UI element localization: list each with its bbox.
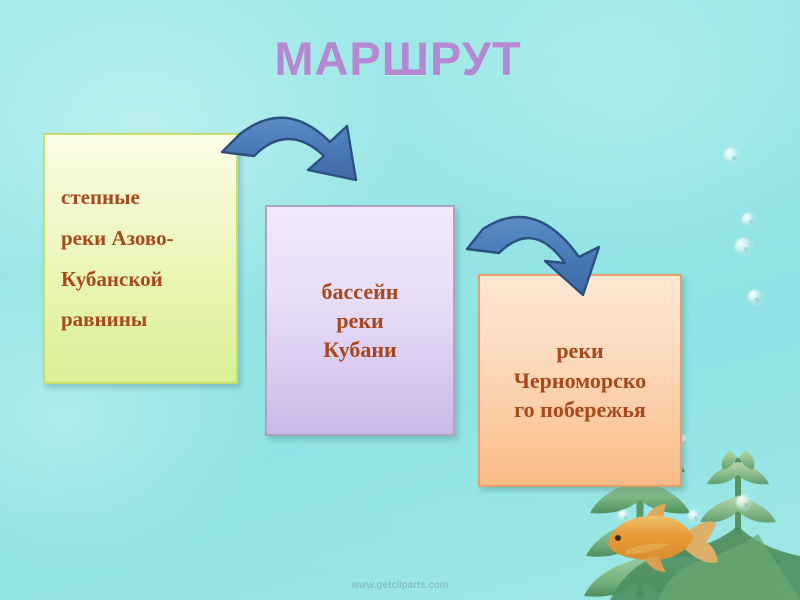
slide-canvas: МАРШРУТ степные реки Азово- Кубанской ра… (0, 0, 800, 600)
box-line: Кубанской (61, 259, 236, 300)
box-line: равнины (61, 299, 236, 340)
box-line: бассейн (275, 277, 445, 306)
bubble-decoration (724, 148, 739, 163)
bubble-decoration (735, 238, 752, 255)
flow-box-steppe-rivers: степные реки Азово- Кубанской равнины (43, 133, 238, 384)
bubble-decoration (688, 510, 700, 522)
slide-title: МАРШРУТ (248, 36, 548, 82)
box-line: реки Азово- (61, 218, 236, 259)
arrow-green-to-purple-icon (216, 100, 368, 196)
box-line: Черноморско (486, 366, 674, 395)
box-line: реки (275, 306, 445, 335)
box-line: реки (486, 336, 674, 365)
box-line: Кубани (275, 335, 445, 364)
box-line: го побережья (486, 395, 674, 424)
bubble-decoration (618, 510, 629, 521)
box-line: степные (61, 177, 236, 218)
bubble-decoration (736, 495, 751, 510)
watermark-text: www.getcliparts.com (0, 580, 800, 591)
flow-box-kuban-basin: бассейн реки Кубани (265, 205, 455, 436)
bubble-decoration (748, 290, 762, 304)
bubble-decoration (742, 213, 755, 226)
flow-box-black-sea-coast: реки Черноморско го побережья (478, 274, 682, 487)
